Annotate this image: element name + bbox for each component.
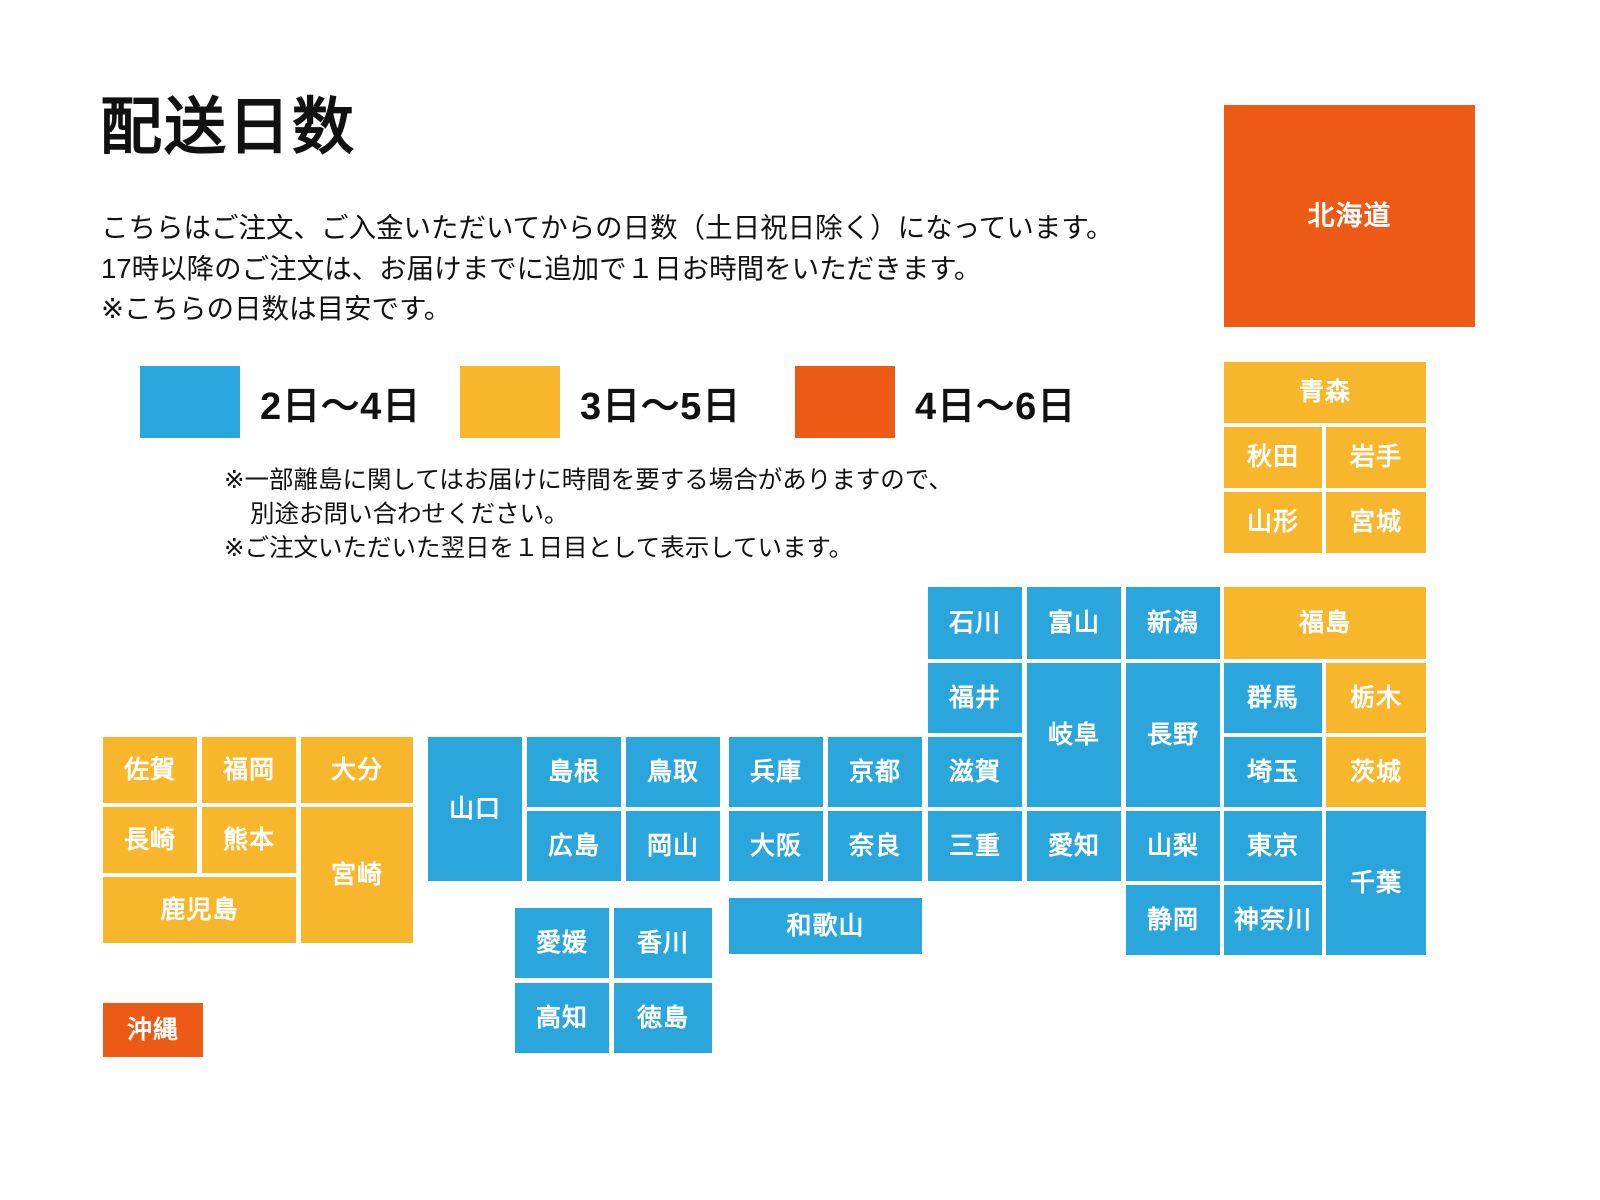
prefecture-cell[interactable]: 秋田 (1224, 427, 1322, 488)
prefecture-cell[interactable]: 長崎 (103, 807, 197, 873)
prefecture-cell[interactable]: 静岡 (1126, 885, 1220, 955)
prefecture-cell[interactable]: 滋賀 (928, 737, 1022, 807)
prefecture-cell[interactable]: 福島 (1224, 587, 1426, 659)
prefecture-cell[interactable]: 鹿児島 (103, 877, 296, 943)
prefecture-cell[interactable]: 岩手 (1326, 427, 1426, 488)
prefecture-cell[interactable]: 宮崎 (301, 807, 413, 943)
prefecture-cell[interactable]: 愛知 (1027, 811, 1121, 881)
prefecture-cell[interactable]: 佐賀 (103, 737, 197, 803)
prefecture-cell[interactable]: 高知 (515, 983, 609, 1053)
prefecture-cell[interactable]: 石川 (928, 587, 1022, 659)
prefecture-cell[interactable]: 愛媛 (515, 908, 609, 978)
prefecture-cell[interactable]: 奈良 (828, 811, 922, 881)
prefecture-cell[interactable]: 福岡 (202, 737, 296, 803)
prefecture-cell[interactable]: 京都 (828, 737, 922, 807)
prefecture-cell[interactable]: 福井 (928, 663, 1022, 733)
prefecture-cell[interactable]: 埼玉 (1224, 737, 1322, 807)
prefecture-cell[interactable]: 宮城 (1326, 492, 1426, 553)
prefecture-cell[interactable]: 和歌山 (729, 898, 922, 954)
prefecture-cell[interactable]: 神奈川 (1224, 885, 1322, 955)
prefecture-cell[interactable]: 香川 (614, 908, 712, 978)
prefecture-cell[interactable]: 栃木 (1326, 663, 1426, 733)
prefecture-cell[interactable]: 群馬 (1224, 663, 1322, 733)
prefecture-cell[interactable]: 大阪 (729, 811, 823, 881)
prefecture-cell[interactable]: 岐阜 (1027, 663, 1121, 807)
prefecture-cell[interactable]: 広島 (527, 811, 621, 881)
prefecture-cell[interactable]: 熊本 (202, 807, 296, 873)
prefecture-cell[interactable]: 千葉 (1326, 811, 1426, 955)
prefecture-cell[interactable]: 島根 (527, 737, 621, 807)
prefecture-cell[interactable]: 富山 (1027, 587, 1121, 659)
prefecture-cell[interactable]: 新潟 (1126, 587, 1220, 659)
prefecture-cell[interactable]: 大分 (301, 737, 413, 803)
prefecture-cell[interactable]: 三重 (928, 811, 1022, 881)
prefecture-cell[interactable]: 長野 (1126, 663, 1220, 807)
prefecture-cell[interactable]: 岡山 (626, 811, 720, 881)
prefecture-cell[interactable]: 東京 (1224, 811, 1322, 881)
prefecture-cell[interactable]: 茨城 (1326, 737, 1426, 807)
prefecture-cell[interactable]: 兵庫 (729, 737, 823, 807)
prefecture-cell[interactable]: 山梨 (1126, 811, 1220, 881)
prefecture-cell[interactable]: 青森 (1224, 362, 1426, 423)
prefecture-cell[interactable]: 沖縄 (103, 1003, 203, 1057)
japan-prefecture-cartogram: 北海道青森秋田岩手山形宮城福島石川富山新潟福井滋賀岐阜長野群馬栃木埼玉茨城山口島… (0, 0, 1600, 1200)
prefecture-cell[interactable]: 徳島 (614, 983, 712, 1053)
prefecture-cell[interactable]: 北海道 (1224, 105, 1475, 327)
prefecture-cell[interactable]: 鳥取 (626, 737, 720, 807)
prefecture-cell[interactable]: 山形 (1224, 492, 1322, 553)
shipping-days-infographic: 配送日数 こちらはご注文、ご入金いただいてからの日数（土日祝日除く）になっていま… (0, 0, 1600, 1200)
prefecture-cell[interactable]: 山口 (428, 737, 522, 881)
